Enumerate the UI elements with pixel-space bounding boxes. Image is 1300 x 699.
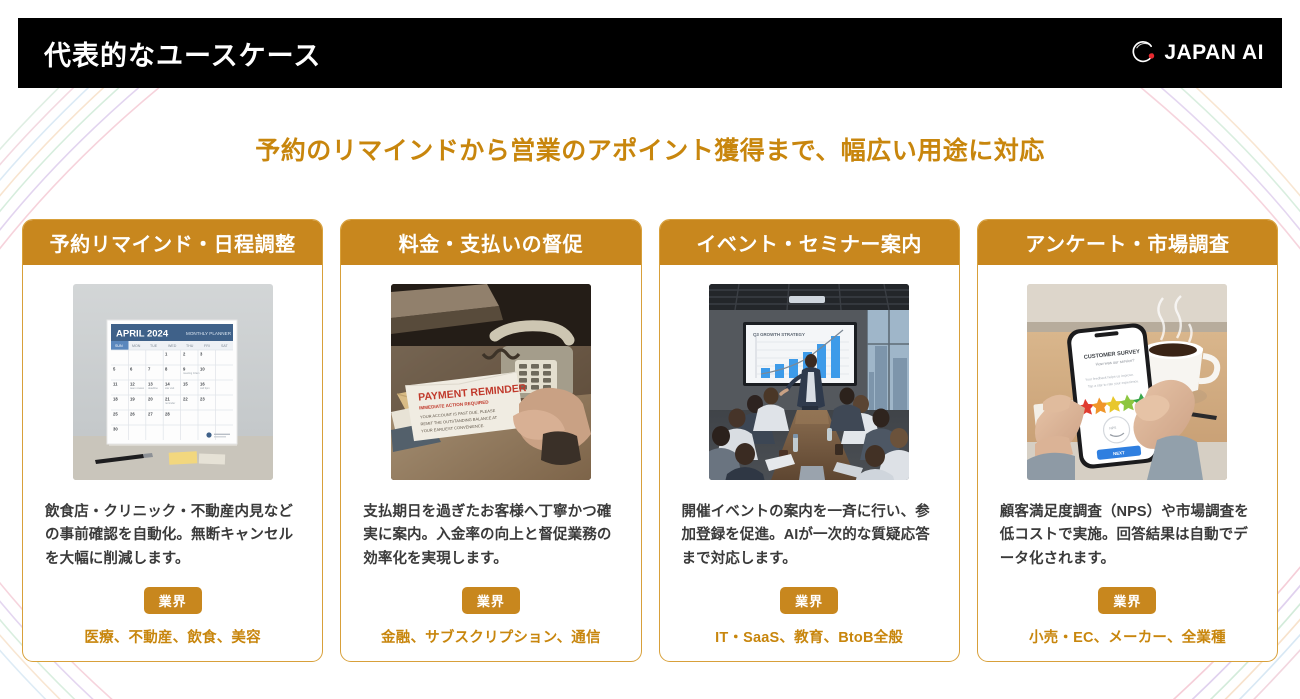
card-header: イベント・セミナー案内 — [659, 219, 960, 265]
svg-text:site visit: site visit — [165, 386, 175, 390]
svg-text:FRI: FRI — [204, 344, 210, 348]
card-description: 飲食店・クリニック・不動産内見などの事前確認を自動化。無断キャンセルを大幅に削減… — [45, 501, 300, 571]
brand-logo: JAPAN AI — [1131, 40, 1264, 66]
seminar-presentation-photo: Q3 GROWTH STRATEGY — [709, 284, 909, 480]
svg-text:10: 10 — [200, 367, 205, 372]
circle-brush-mark-icon — [1131, 40, 1157, 66]
svg-text:27: 27 — [148, 412, 153, 417]
svg-text:SUN: SUN — [115, 344, 123, 348]
card-title: イベント・セミナー案内 — [696, 228, 922, 257]
slide-root: 代表的なユースケース JAPAN AI 予約のリマインドから営業のアポイント獲得… — [0, 0, 1300, 699]
card-description: 顧客満足度調査（NPS）や市場調査を低コストで実施。回答結果は自動でデータ化され… — [1000, 501, 1255, 571]
payment-reminder-letter-photo: PAYMENT REMINDER IMMEDIATE ACTION REQUIR… — [391, 284, 591, 480]
industry-badge-wrap: 業界 — [660, 587, 959, 614]
svg-text:reminder: reminder — [165, 401, 175, 405]
usecase-card-event-seminar[interactable]: イベント・セミナー案内 — [659, 219, 960, 662]
card-title: 予約リマインド・日程調整 — [50, 228, 296, 257]
page-title: 代表的なユースケース — [44, 34, 321, 73]
svg-text:MONTHLY PLANNER: MONTHLY PLANNER — [186, 331, 232, 336]
svg-text:28: 28 — [165, 412, 170, 417]
svg-text:Q3 GROWTH STRATEGY: Q3 GROWTH STRATEGY — [753, 332, 805, 337]
usecase-card-survey-research[interactable]: アンケート・市場調査 — [977, 219, 1278, 662]
industry-badge-wrap: 業界 — [23, 587, 322, 614]
svg-text:NPS: NPS — [1110, 426, 1118, 431]
svg-text:THU: THU — [186, 344, 194, 348]
svg-text:team review: team review — [130, 386, 144, 390]
svg-text:APRIL 2024: APRIL 2024 — [116, 329, 169, 340]
svg-text:deadline: deadline — [148, 386, 158, 390]
industry-tags: IT・SaaS、教育、BtoB全般 — [660, 626, 959, 647]
svg-text:WED: WED — [168, 344, 177, 348]
industry-badge: 業界 — [462, 587, 520, 614]
svg-text:26: 26 — [130, 412, 135, 417]
wall-calendar-photo: APRIL 2024 MONTHLY PLANNER SUN MON TUE W… — [73, 284, 273, 480]
svg-text:SAT: SAT — [221, 344, 229, 348]
industry-badge: 業界 — [1098, 587, 1156, 614]
card-title: 料金・支払いの督促 — [399, 228, 584, 257]
card-header: 料金・支払いの督促 — [340, 219, 641, 265]
slide-header-bar: 代表的なユースケース JAPAN AI — [18, 18, 1282, 88]
svg-text:11: 11 — [113, 382, 118, 387]
card-title: アンケート・市場調査 — [1025, 228, 1229, 257]
slide-subtitle: 予約のリマインドから営業のアポイント獲得まで、幅広い用途に対応 — [0, 131, 1300, 167]
industry-badge-wrap: 業界 — [978, 587, 1277, 614]
svg-text:14: 14 — [165, 382, 170, 387]
svg-text:30: 30 — [113, 427, 118, 432]
industry-tags: 金融、サブスクリプション、通信 — [341, 626, 640, 647]
industry-badge: 業界 — [780, 587, 838, 614]
brand-logo-text: JAPAN AI — [1164, 41, 1264, 65]
svg-text:16: 16 — [200, 382, 205, 387]
svg-text:19: 19 — [130, 397, 135, 402]
svg-text:12: 12 — [130, 382, 135, 387]
svg-text:call 3pm: call 3pm — [200, 386, 210, 390]
svg-text:meeting 10am: meeting 10am — [183, 371, 199, 375]
card-description: 開催イベントの案内を一斉に行い、参加登録を促進。AIが一次的な質疑応答まで対応し… — [682, 501, 937, 571]
card-header: アンケート・市場調査 — [977, 219, 1278, 265]
svg-text:TUE: TUE — [150, 344, 158, 348]
smartphone-survey-photo: CUSTOMER SURVEY How was our service? You… — [1027, 284, 1227, 480]
svg-text:13: 13 — [148, 382, 153, 387]
svg-text:20: 20 — [148, 397, 153, 402]
svg-text:15: 15 — [183, 382, 188, 387]
svg-text:22: 22 — [183, 397, 188, 402]
usecase-card-payment-reminder[interactable]: 料金・支払いの督促 — [340, 219, 641, 662]
industry-tags: 小売・EC、メーカー、全業種 — [978, 626, 1277, 647]
svg-text:21: 21 — [165, 397, 170, 402]
card-header: 予約リマインド・日程調整 — [22, 219, 323, 265]
svg-text:23: 23 — [200, 397, 205, 402]
svg-text:25: 25 — [113, 412, 118, 417]
industry-badge-wrap: 業界 — [341, 587, 640, 614]
card-description: 支払期日を過ぎたお客様へ丁寧かつ確実に案内。入金率の向上と督促業務の効率化を実現… — [363, 501, 618, 571]
usecase-card-reservation-reminder[interactable]: 予約リマインド・日程調整 — [22, 219, 323, 662]
svg-text:18: 18 — [113, 397, 118, 402]
usecase-card-list: 予約リマインド・日程調整 — [22, 219, 1278, 662]
industry-tags: 医療、不動産、飲食、美容 — [23, 626, 322, 647]
industry-badge: 業界 — [144, 587, 202, 614]
svg-text:MON: MON — [132, 344, 141, 348]
